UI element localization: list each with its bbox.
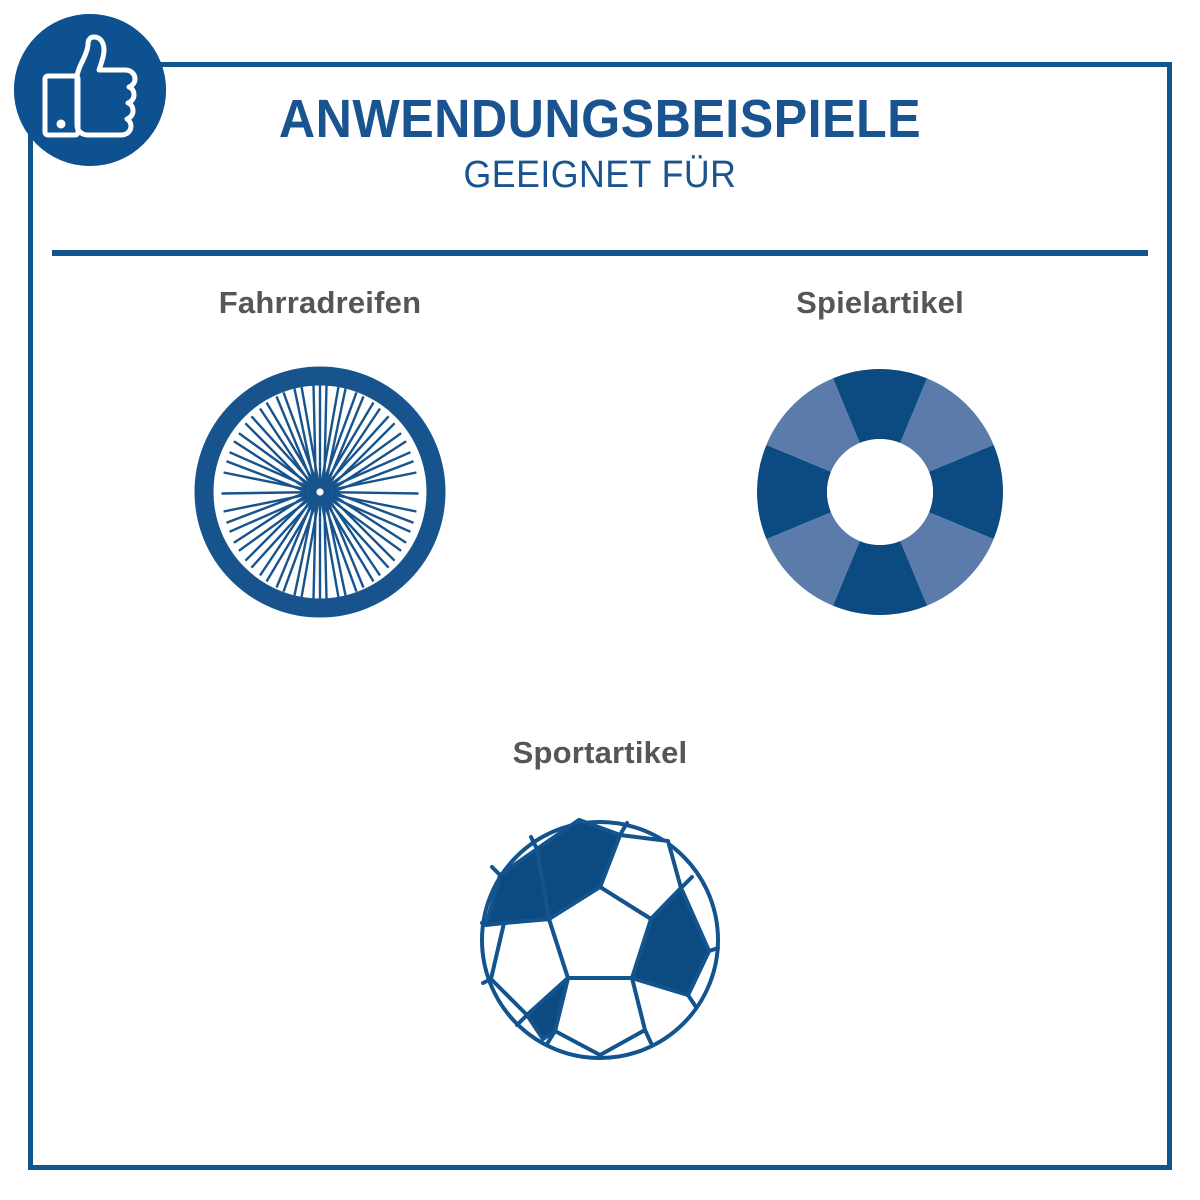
examples-row-1: Fahrradreifen	[40, 285, 1160, 617]
page-title: ANWENDUNGSBEISPIELE	[90, 92, 1109, 146]
life-ring-icon	[755, 367, 1005, 617]
bicycle-wheel-icon	[195, 367, 445, 617]
page-subtitle: GEEIGNET FÜR	[85, 156, 1115, 194]
thumbs-up-icon	[14, 14, 166, 166]
title-block: ANWENDUNGSBEISPIELE GEEIGNET FÜR	[52, 92, 1148, 194]
soccer-ball-icon	[475, 815, 725, 1065]
example-label: Sportartikel	[513, 735, 688, 771]
example-item-play-article: Spielartikel	[600, 285, 1160, 617]
infographic-page: ANWENDUNGSBEISPIELE GEEIGNET FÜR Fahrrad…	[0, 0, 1200, 1200]
examples-grid: Fahrradreifen	[40, 285, 1160, 1065]
title-divider	[52, 250, 1148, 256]
example-item-bicycle-tire: Fahrradreifen	[40, 285, 600, 617]
thumbs-up-badge	[14, 14, 166, 166]
examples-row-2: Sportartikel	[40, 735, 1160, 1065]
example-item-sports-article: Sportartikel	[320, 735, 880, 1065]
example-label: Fahrradreifen	[219, 285, 421, 321]
example-label: Spielartikel	[796, 285, 964, 321]
